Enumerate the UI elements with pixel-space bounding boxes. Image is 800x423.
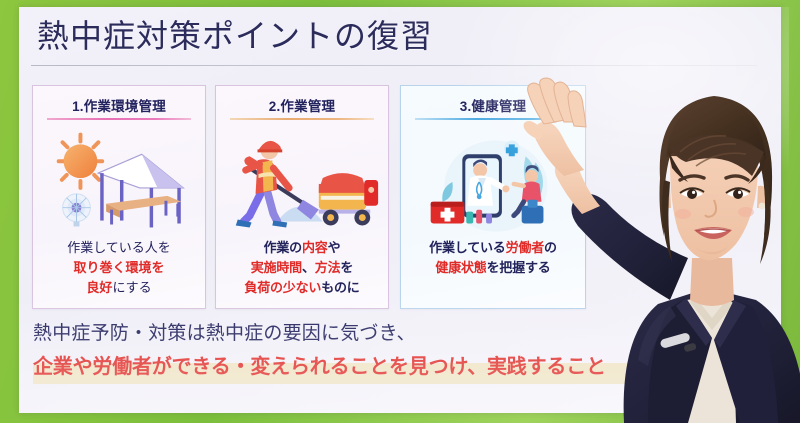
worker-shovel-mixer-icon <box>216 126 388 236</box>
card-divider-1 <box>47 118 191 120</box>
card-title-1: 1.作業環境管理 <box>33 95 205 115</box>
card-text-1: 作業している人を取り巻く環境を良好にする <box>37 238 201 298</box>
page-title: 熱中症対策ポイントの復習 <box>37 13 433 59</box>
video-frame: 熱中症対策ポイントの復習 1.作業環境管理 <box>0 0 800 423</box>
presenter-figure <box>520 0 800 423</box>
card-1-line-3: 良好にする <box>37 278 201 298</box>
card-2-line-1: 作業の内容や <box>220 238 384 258</box>
point-card-2: 2.作業管理 <box>215 85 389 309</box>
card-title-2: 2.作業管理 <box>216 95 388 115</box>
card-2-line-2: 実施時間、方法を <box>220 258 384 278</box>
card-1-line-1: 作業している人を <box>37 238 201 258</box>
sun-shelter-fan-icon <box>33 126 205 236</box>
card-2-line-3: 負荷の少ないものに <box>220 278 384 298</box>
card-1-line-2: 取り巻く環境を <box>37 258 201 278</box>
point-card-1: 1.作業環境管理 <box>32 85 206 309</box>
card-divider-2 <box>230 118 374 120</box>
card-text-2: 作業の内容や実施時間、方法を負荷の少ないものに <box>220 238 384 298</box>
